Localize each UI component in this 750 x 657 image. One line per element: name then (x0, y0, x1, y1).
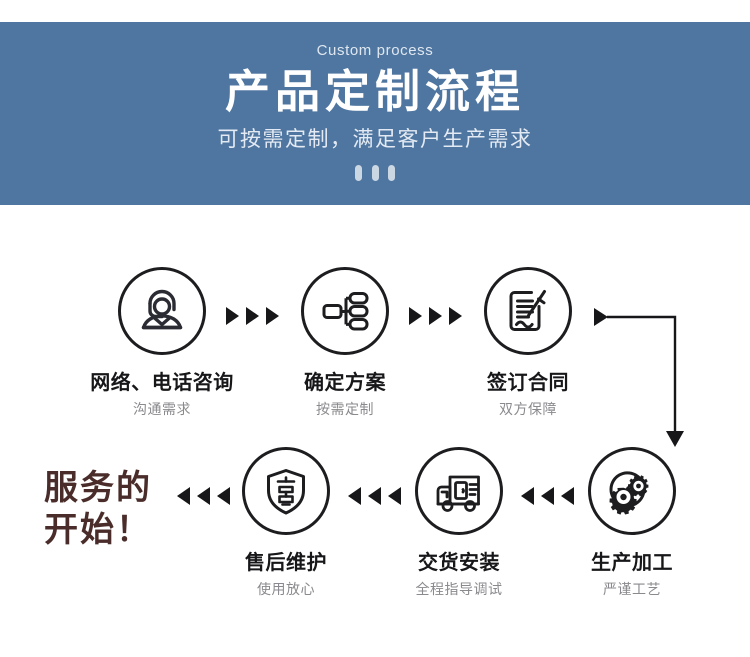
step-subtitle: 沟通需求 (72, 401, 252, 417)
header-banner: Custom process 产品定制流程 可按需定制，满足客户生产需求 (0, 22, 750, 205)
triangle-left-icon (521, 487, 534, 505)
step-contract[interactable]: 签订合同 双方保障 (438, 267, 618, 417)
process-flow-diagram: 网络、电话咨询 沟通需求 确定方案 按需定制 (0, 205, 750, 657)
step-delivery[interactable]: 交货安装 全程指导调试 (369, 447, 549, 597)
step-subtitle: 全程指导调试 (369, 581, 549, 597)
step-title: 网络、电话咨询 (72, 372, 252, 395)
service-start-line2: 开始！ (44, 509, 174, 551)
step-subtitle: 使用放心 (196, 581, 376, 597)
step-title: 签订合同 (438, 372, 618, 395)
dot-pill-1 (355, 165, 362, 181)
step-subtitle: 按需定制 (255, 401, 435, 417)
step-title: 生产加工 (542, 552, 722, 575)
delivery-truck-icon (415, 447, 503, 535)
step-subtitle: 双方保障 (438, 401, 618, 417)
banner-eyebrow-text: Custom process (0, 22, 750, 60)
step-subtitle: 严谨工艺 (542, 581, 722, 597)
page-title: 产品定制流程 (0, 60, 750, 117)
dot-pill-3 (388, 165, 395, 181)
contract-signing-icon (484, 267, 572, 355)
gears-production-icon (588, 447, 676, 535)
step-after-sales[interactable]: 售后维护 使用放心 (196, 447, 376, 597)
step-production[interactable]: 生产加工 严谨工艺 (542, 447, 722, 597)
step-title: 售后维护 (196, 552, 376, 575)
step-title: 确定方案 (255, 372, 435, 395)
shield-after-sales-icon (242, 447, 330, 535)
customer-service-agent-icon (118, 267, 206, 355)
elbow-connector-arrow (592, 305, 684, 450)
step-consultation[interactable]: 网络、电话咨询 沟通需求 (72, 267, 252, 417)
service-start-label: 服务的 开始！ (44, 467, 174, 551)
banner-dots-decoration (355, 153, 395, 181)
flowchart-plan-icon (301, 267, 389, 355)
step-title: 交货安装 (369, 552, 549, 575)
triangle-left-icon (177, 487, 190, 505)
dot-pill-2 (372, 165, 379, 181)
step-plan[interactable]: 确定方案 按需定制 (255, 267, 435, 417)
banner-subtitle-text: 可按需定制，满足客户生产需求 (0, 117, 750, 152)
triangle-right-icon (226, 307, 239, 325)
service-start-line1: 服务的 (44, 467, 174, 509)
triangle-left-icon (348, 487, 361, 505)
triangle-right-icon (409, 307, 422, 325)
